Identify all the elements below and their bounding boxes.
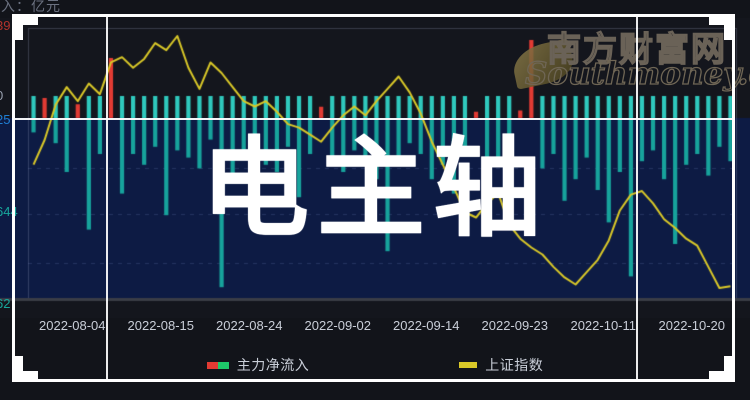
x-axis-tick: 2022-09-14 [393, 318, 460, 333]
legend-swatch-icon [207, 362, 229, 369]
legend-label: 上证指数 [485, 355, 543, 375]
x-axis-tick: 2022-10-20 [659, 318, 726, 333]
x-axis-tick: 2022-08-24 [216, 318, 283, 333]
y-axis-tick: 25 [0, 112, 10, 127]
legend-label: 主力净流入 [237, 355, 310, 375]
screenshot-root: 流入：亿元 3902564462 2022-08-042022-08-15202… [0, 0, 750, 400]
y-axis-tick: 62 [0, 296, 10, 311]
y-axis-tick: 39 [0, 18, 10, 33]
panel-header-label: 流入：亿元 [0, 0, 61, 16]
x-axis-tick: 2022-08-15 [128, 318, 195, 333]
x-axis-tick: 2022-08-04 [39, 318, 106, 333]
y-axis-tick: 0 [0, 88, 3, 103]
x-axis-tick: 2022-09-23 [482, 318, 549, 333]
legend-swatch-icon [459, 362, 477, 368]
crosshair-horizontal [14, 118, 735, 120]
x-axis-tick: 2022-09-02 [305, 318, 372, 333]
legend-item[interactable]: 主力净流入 [207, 355, 310, 375]
x-axis-tick: 2022-10-11 [570, 318, 636, 333]
crosshair-vertical-right [636, 14, 638, 382]
crosshair-vertical-left [106, 14, 108, 382]
legend-item[interactable]: 上证指数 [459, 355, 543, 375]
